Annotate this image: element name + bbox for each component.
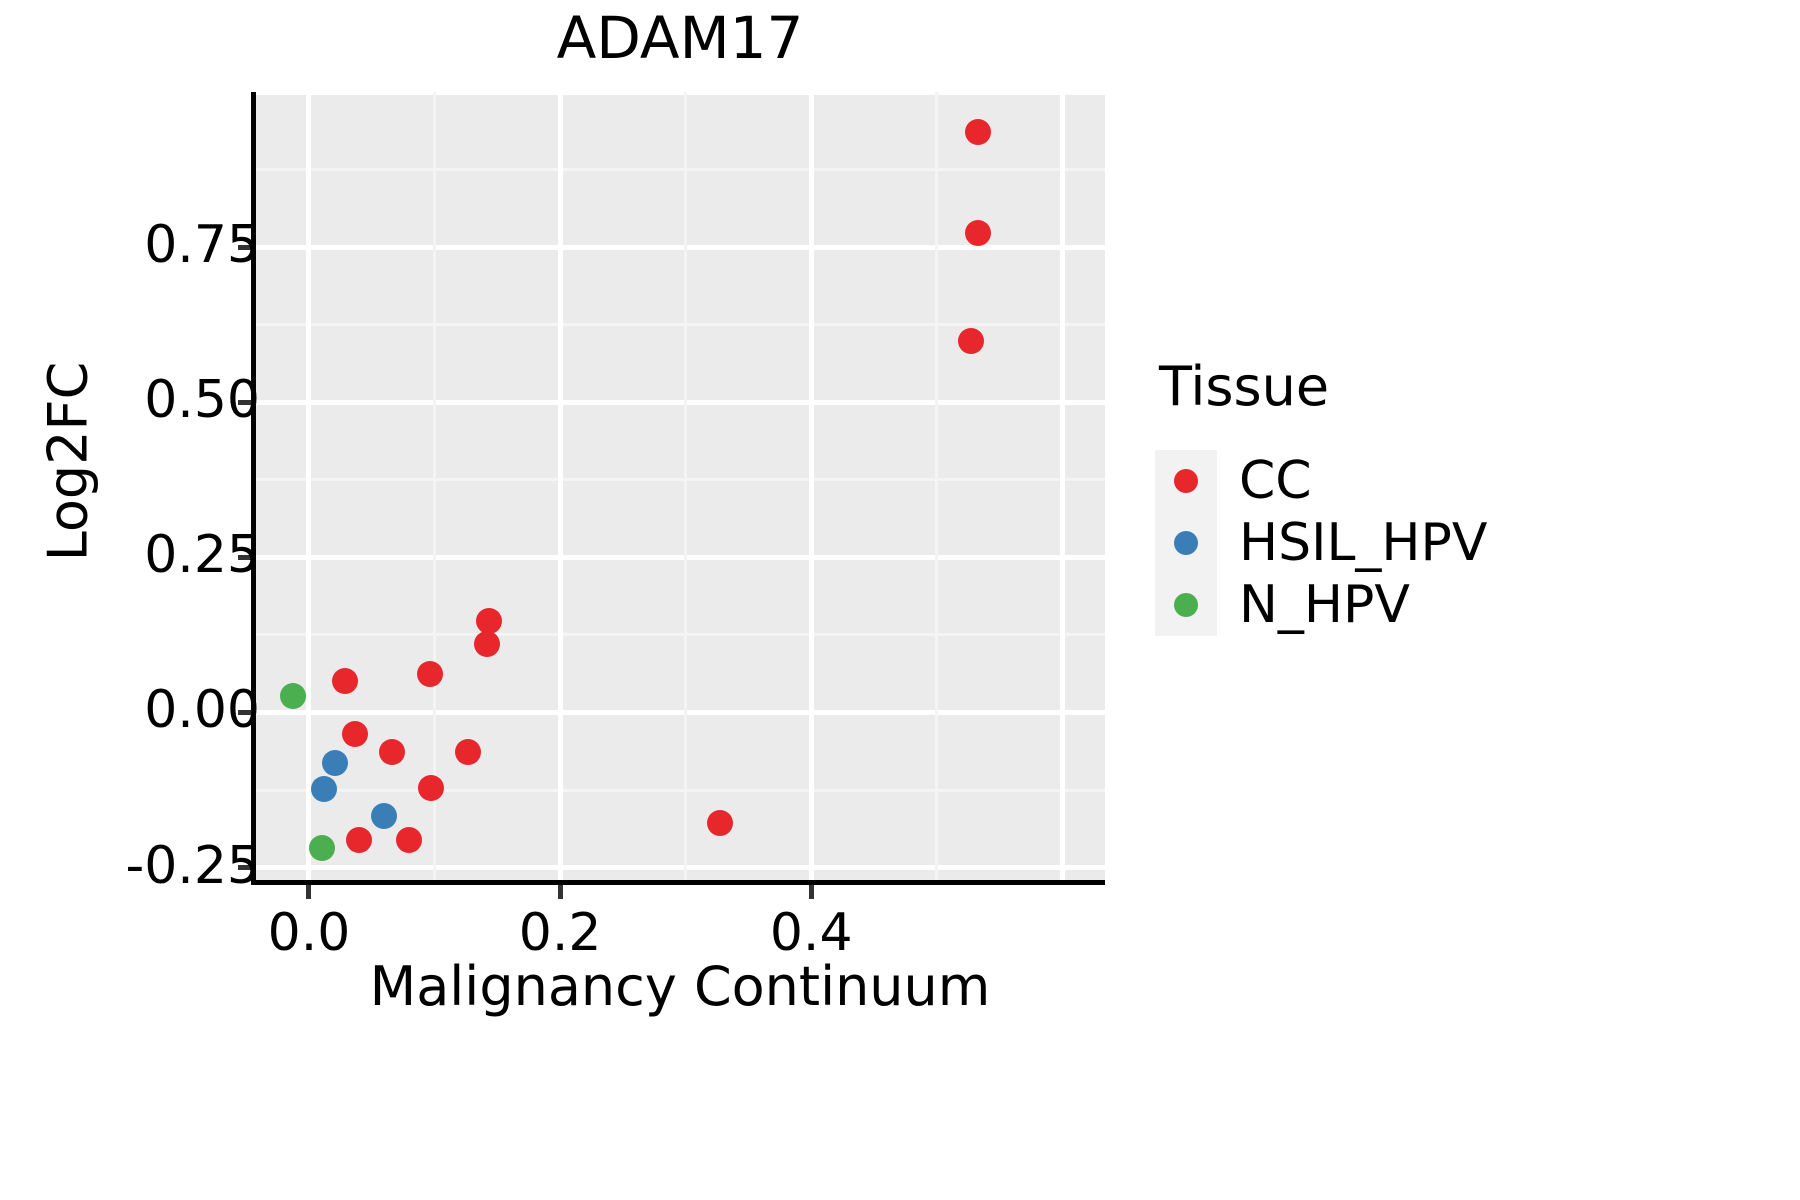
legend-item-cc[interactable]: CC: [1155, 450, 1715, 512]
gridline-major-horizontal: [255, 400, 1105, 405]
data-point: [346, 827, 372, 853]
legend: Tissue CCHSIL_HPVN_HPV: [1155, 355, 1715, 636]
legend-item-label: N_HPV: [1239, 579, 1410, 631]
gridline-major-horizontal: [255, 92, 1105, 95]
gridline-major-vertical: [558, 92, 563, 880]
gridline-major-horizontal: [255, 710, 1105, 715]
y-axis-title: Log2FC: [37, 162, 100, 762]
gridline-minor-horizontal: [255, 478, 1105, 481]
y-tick-label: -0.25: [40, 836, 260, 896]
data-point: [965, 220, 991, 246]
y-axis-line: [251, 92, 256, 885]
data-point: [371, 803, 397, 829]
gridline-major-horizontal: [255, 555, 1105, 560]
data-point: [455, 739, 481, 765]
data-point: [417, 661, 443, 687]
x-tick-label: 0.4: [711, 903, 911, 963]
gridline-minor-horizontal: [255, 789, 1105, 792]
legend-key-swatch: [1155, 574, 1217, 636]
x-axis-title: Malignancy Continuum: [255, 955, 1105, 1018]
legend-dot-icon: [1174, 593, 1198, 617]
legend-dot-icon: [1174, 531, 1198, 555]
data-point: [309, 835, 335, 861]
data-point: [476, 608, 502, 634]
data-point: [332, 668, 358, 694]
gridline-major-vertical: [809, 92, 814, 880]
x-tick-mark: [558, 885, 563, 899]
data-point: [280, 683, 306, 709]
legend-key-swatch: [1155, 450, 1217, 512]
data-point: [958, 328, 984, 354]
data-point: [322, 750, 348, 776]
legend-dot-icon: [1174, 469, 1198, 493]
x-tick-label: 0.2: [460, 903, 660, 963]
data-point: [474, 631, 500, 657]
legend-item-n-hpv[interactable]: N_HPV: [1155, 574, 1715, 636]
gridline-major-vertical: [1060, 92, 1065, 880]
legend-item-hsil-hpv[interactable]: HSIL_HPV: [1155, 512, 1715, 574]
x-tick-label: 0.0: [209, 903, 409, 963]
page-title: ADAM17: [255, 8, 1105, 69]
plot-panel: [255, 92, 1105, 880]
data-point: [311, 776, 337, 802]
x-tick-mark: [306, 885, 311, 899]
gridline-major-horizontal: [255, 865, 1105, 870]
x-axis-line: [251, 880, 1105, 885]
legend-items: CCHSIL_HPVN_HPV: [1155, 450, 1715, 636]
gridline-minor-vertical: [935, 92, 938, 880]
data-point: [707, 810, 733, 836]
data-point: [965, 119, 991, 145]
chart-root: ADAM17 -0.250.000.250.500.75 0.00.20.4 L…: [0, 0, 1800, 1200]
gridline-major-vertical: [306, 92, 311, 880]
legend-item-label: HSIL_HPV: [1239, 517, 1487, 569]
gridline-minor-horizontal: [255, 168, 1105, 171]
gridline-minor-vertical: [684, 92, 687, 880]
legend-key-swatch: [1155, 512, 1217, 574]
data-point: [396, 827, 422, 853]
x-tick-mark: [809, 885, 814, 899]
data-point: [418, 775, 444, 801]
legend-title: Tissue: [1159, 355, 1715, 418]
gridline-minor-horizontal: [255, 323, 1105, 326]
gridline-minor-horizontal: [255, 633, 1105, 636]
gridline-minor-vertical: [433, 92, 436, 880]
data-point: [379, 739, 405, 765]
legend-item-label: CC: [1239, 455, 1312, 507]
data-point: [342, 721, 368, 747]
